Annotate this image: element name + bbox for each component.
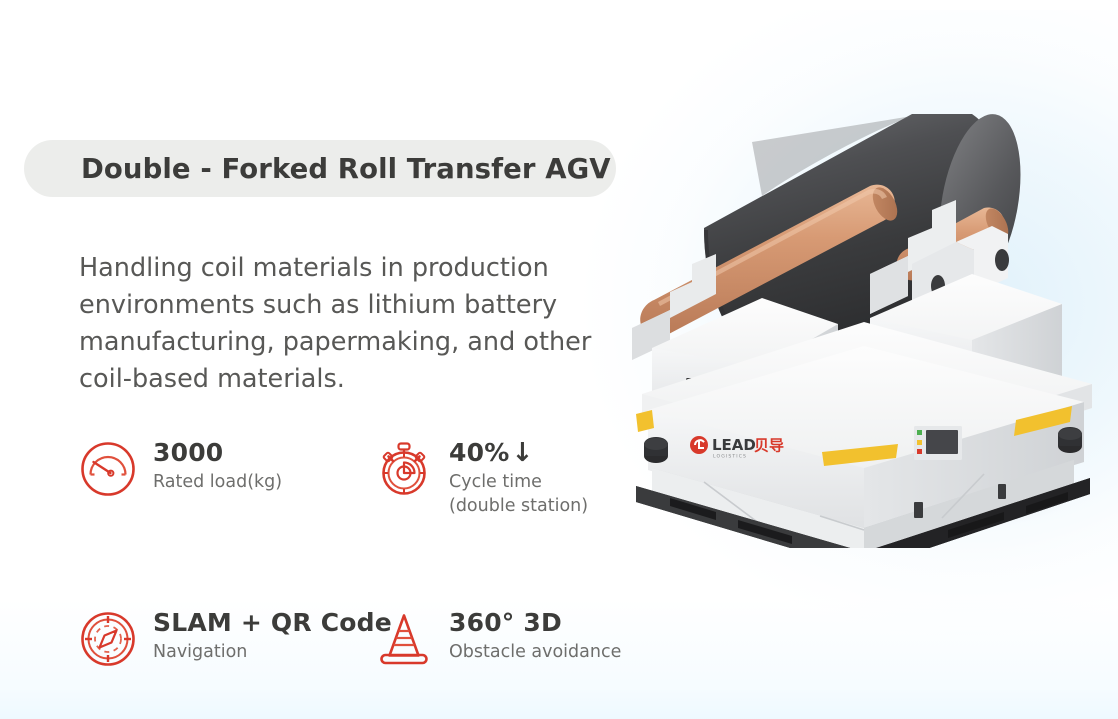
spec-item-cycle-time: 40% ↓ Cycle time (double station) <box>375 436 588 518</box>
control-panel <box>914 426 962 460</box>
spec-value-text: 3000 <box>153 439 223 467</box>
brand-sub-text: LOGISTICS <box>713 454 747 460</box>
spec-label-line1: Navigation <box>153 640 392 664</box>
spec-label-line1: Obstacle avoidance <box>449 640 621 664</box>
arrow-down-icon: ↓ <box>511 440 533 466</box>
gauge-icon <box>79 440 137 498</box>
spec-value: 3000 <box>153 439 282 467</box>
spec-body: SLAM + QR Code Navigation <box>153 606 392 664</box>
spec-value-text: SLAM + QR Code <box>153 609 392 637</box>
spec-item-rated-load: 3000 Rated load(kg) <box>79 436 375 518</box>
spec-item-obstacle-avoidance: 360° 3D Obstacle avoidance <box>375 606 621 668</box>
spec-body: 40% ↓ Cycle time (double station) <box>449 436 588 518</box>
spec-value: 360° 3D <box>449 609 621 637</box>
spec-label-line1: Cycle time <box>449 470 588 494</box>
spec-value-text: 40% <box>449 439 509 467</box>
spec-value-text: 360° 3D <box>449 609 562 637</box>
product-slide: Double - Forked Roll Transfer AGV Handli… <box>0 0 1118 719</box>
spec-label-line2: (double station) <box>449 494 588 518</box>
compass-icon <box>79 610 137 668</box>
brand-latin-text: LEAD <box>712 436 756 454</box>
spec-value: 40% ↓ <box>449 439 588 467</box>
spec-row-1: 3000 Rated load(kg) <box>79 436 679 518</box>
spec-grid: 3000 Rated load(kg) <box>79 436 679 668</box>
spec-row-2: SLAM + QR Code Navigation <box>79 606 679 668</box>
brand-cjk-text: 贝导 <box>754 437 784 455</box>
title-pill: Double - Forked Roll Transfer AGV <box>24 140 616 197</box>
product-image-agv: LEAD 贝导 LOGISTICS <box>612 78 1118 548</box>
spec-label-line1: Rated load(kg) <box>153 470 282 494</box>
description-text: Handling coil materials in production en… <box>79 250 639 398</box>
spec-body: 360° 3D Obstacle avoidance <box>449 606 621 664</box>
traffic-cone-icon <box>375 610 433 668</box>
spec-item-navigation: SLAM + QR Code Navigation <box>79 606 375 668</box>
stopwatch-icon <box>375 440 433 498</box>
spec-body: 3000 Rated load(kg) <box>153 436 282 494</box>
page-title: Double - Forked Roll Transfer AGV <box>81 153 611 185</box>
spec-value: SLAM + QR Code <box>153 609 392 637</box>
